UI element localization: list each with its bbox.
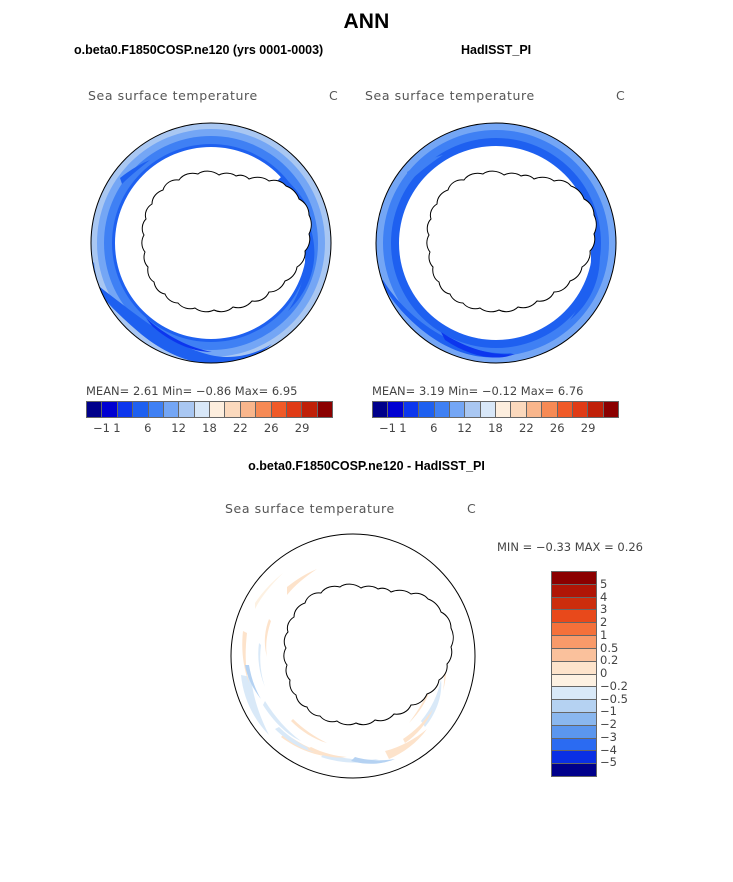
colorbar-cell bbox=[118, 402, 133, 417]
colorbar-cell bbox=[552, 598, 596, 611]
colorbar-diff bbox=[551, 571, 597, 777]
colorbar-tick-label: 29 bbox=[295, 421, 310, 435]
colorbar-cell bbox=[302, 402, 317, 417]
colorbar-ticks-diff: 543210.50.20−0.2−0.5−1−2−3−4−5 bbox=[600, 571, 640, 775]
colorbar-cell bbox=[552, 764, 596, 776]
colorbar-tick-label: 22 bbox=[519, 421, 534, 435]
colorbar-cell bbox=[133, 402, 148, 417]
colorbar-tick-label: 22 bbox=[233, 421, 248, 435]
colorbar-cell bbox=[552, 675, 596, 688]
colorbar-tick-label: 18 bbox=[488, 421, 503, 435]
variable-label-diff: Sea surface temperature bbox=[225, 501, 395, 516]
colorbar-ticks-test: −1161218222629 bbox=[86, 421, 333, 437]
colorbar-cell bbox=[542, 402, 557, 417]
colorbar-cell bbox=[102, 402, 117, 417]
colorbar-cell bbox=[558, 402, 573, 417]
colorbar-cell bbox=[435, 402, 450, 417]
colorbar-cell bbox=[552, 572, 596, 585]
colorbar-cell bbox=[552, 726, 596, 739]
colorbar-tick-label: 1 bbox=[399, 421, 406, 435]
colorbar-cell bbox=[87, 402, 102, 417]
colorbar-cell bbox=[164, 402, 179, 417]
colorbar-cell bbox=[272, 402, 287, 417]
colorbar-cell bbox=[604, 402, 618, 417]
colorbar-tick-label: −5 bbox=[600, 755, 617, 769]
map-test bbox=[86, 112, 336, 374]
colorbar-tick-label: 26 bbox=[264, 421, 279, 435]
units-label-diff: C bbox=[467, 501, 476, 516]
panel-title-test: o.beta0.F1850COSP.ne120 (yrs 0001-0003) bbox=[74, 43, 323, 57]
colorbar-cell bbox=[552, 700, 596, 713]
variable-label-obs: Sea surface temperature bbox=[365, 88, 535, 103]
map-obs-svg bbox=[371, 112, 621, 374]
colorbar-cell bbox=[588, 402, 603, 417]
colorbar-cell bbox=[573, 402, 588, 417]
stats-obs: MEAN= 3.19 Min= −0.12 Max= 6.76 bbox=[372, 384, 583, 398]
colorbar-cell bbox=[552, 739, 596, 752]
colorbar-tick-label: 6 bbox=[430, 421, 437, 435]
figure-canvas: ANN o.beta0.F1850COSP.ne120 (yrs 0001-00… bbox=[0, 0, 733, 882]
variable-label-test: Sea surface temperature bbox=[88, 88, 258, 103]
colorbar-cell bbox=[450, 402, 465, 417]
colorbar-tick-label: 26 bbox=[550, 421, 565, 435]
colorbar-cell bbox=[552, 610, 596, 623]
colorbar-tick-label: 18 bbox=[202, 421, 217, 435]
colorbar-cell bbox=[465, 402, 480, 417]
colorbar-cell bbox=[179, 402, 194, 417]
colorbar-cell bbox=[552, 623, 596, 636]
colorbar-cell bbox=[552, 713, 596, 726]
colorbar-cell bbox=[287, 402, 302, 417]
map-diff-svg bbox=[225, 525, 487, 791]
colorbar-tick-label: −1 bbox=[379, 421, 396, 435]
colorbar-tick-label: 29 bbox=[581, 421, 596, 435]
colorbar-cell bbox=[195, 402, 210, 417]
colorbar-cell bbox=[552, 751, 596, 764]
map-diff bbox=[225, 525, 487, 791]
colorbar-cell bbox=[404, 402, 419, 417]
colorbar-cell bbox=[318, 402, 332, 417]
colorbar-cell bbox=[419, 402, 434, 417]
colorbar-cell bbox=[527, 402, 542, 417]
units-label-obs: C bbox=[616, 88, 625, 103]
colorbar-test bbox=[86, 401, 333, 418]
minmax-diff: MIN = −0.33 MAX = 0.26 bbox=[497, 540, 643, 554]
colorbar-cell bbox=[552, 662, 596, 675]
colorbar-cell bbox=[552, 636, 596, 649]
colorbar-cell bbox=[552, 687, 596, 700]
colorbar-cell bbox=[256, 402, 271, 417]
colorbar-cell bbox=[481, 402, 496, 417]
colorbar-tick-label: 1 bbox=[113, 421, 120, 435]
panel-title-obs: HadISST_PI bbox=[461, 43, 531, 57]
colorbar-tick-label: 12 bbox=[171, 421, 186, 435]
map-obs bbox=[371, 112, 621, 374]
colorbar-tick-label: −1 bbox=[93, 421, 110, 435]
colorbar-cell bbox=[210, 402, 225, 417]
map-test-svg bbox=[86, 112, 336, 374]
colorbar-cell bbox=[149, 402, 164, 417]
colorbar-ticks-obs: −1161218222629 bbox=[372, 421, 619, 437]
panel-title-diff: o.beta0.F1850COSP.ne120 - HadISST_PI bbox=[0, 459, 733, 473]
units-label-test: C bbox=[329, 88, 338, 103]
colorbar-cell bbox=[388, 402, 403, 417]
colorbar-cell bbox=[225, 402, 240, 417]
colorbar-cell bbox=[241, 402, 256, 417]
colorbar-cell bbox=[552, 585, 596, 598]
colorbar-tick-label: 12 bbox=[457, 421, 472, 435]
colorbar-cell bbox=[511, 402, 526, 417]
colorbar-cell bbox=[373, 402, 388, 417]
colorbar-tick-label: 6 bbox=[144, 421, 151, 435]
colorbar-obs bbox=[372, 401, 619, 418]
figure-title: ANN bbox=[0, 10, 733, 34]
stats-test: MEAN= 2.61 Min= −0.86 Max= 6.95 bbox=[86, 384, 297, 398]
colorbar-cell bbox=[496, 402, 511, 417]
colorbar-cell bbox=[552, 649, 596, 662]
